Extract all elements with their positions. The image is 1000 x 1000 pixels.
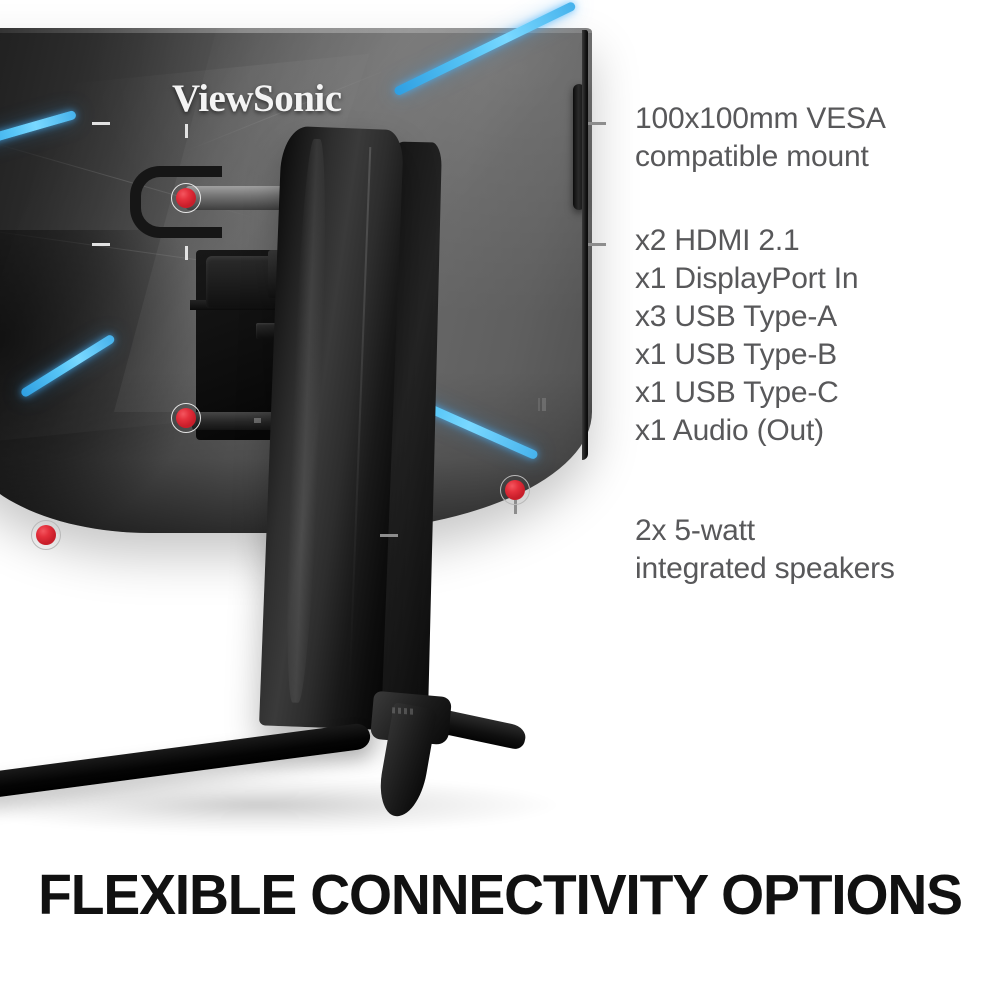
mount-point-marker-icon bbox=[31, 520, 61, 550]
leader-line-vesa-top-tail bbox=[588, 122, 628, 125]
callout-line: integrated speakers bbox=[635, 550, 895, 588]
marker-core bbox=[176, 408, 196, 428]
callout-line: x2 HDMI 2.1 bbox=[635, 222, 858, 260]
leader-line-vesa-top bbox=[92, 122, 584, 125]
leader-line-speakers-left bbox=[40, 534, 380, 537]
callout-line: 100x100mm VESA bbox=[635, 100, 886, 138]
callout-line: x1 Audio (Out) bbox=[635, 412, 858, 450]
leader-line-vertical-mid bbox=[185, 246, 188, 404]
mount-point-marker-icon bbox=[171, 403, 201, 433]
leader-line-vertical-right bbox=[514, 500, 517, 536]
leader-line-ports-tail bbox=[588, 243, 628, 246]
product-photo-monitor-rear: ViewSonic bbox=[0, 0, 620, 850]
callout-line: x1 USB Type-B bbox=[635, 336, 858, 374]
callout-vesa-mount: 100x100mm VESA compatible mount bbox=[635, 100, 886, 176]
mount-point-marker-icon bbox=[171, 183, 201, 213]
stand-column bbox=[259, 126, 404, 730]
page-headline: FLEXIBLE CONNECTIVITY OPTIONS bbox=[15, 862, 985, 928]
mount-point-marker-icon bbox=[500, 475, 530, 505]
leader-line-speakers-right bbox=[380, 534, 628, 537]
callout-line: 2x 5-watt bbox=[635, 512, 895, 550]
product-feature-slide: ViewSonic bbox=[0, 0, 1000, 1000]
stand-column-seam bbox=[348, 147, 371, 699]
status-indicator-icon bbox=[538, 398, 546, 411]
viewsonic-logo: ViewSonic bbox=[172, 76, 342, 121]
marker-core bbox=[505, 480, 525, 500]
callout-line: x1 DisplayPort In bbox=[635, 260, 858, 298]
marker-core bbox=[36, 525, 56, 545]
leader-line-vertical-upper bbox=[185, 124, 188, 182]
marker-core bbox=[176, 188, 196, 208]
callout-line: compatible mount bbox=[635, 138, 886, 176]
callout-line: x3 USB Type-A bbox=[635, 298, 858, 336]
stand-column-highlight bbox=[282, 138, 330, 703]
callout-speakers: 2x 5-watt integrated speakers bbox=[635, 512, 895, 588]
callout-line: x1 USB Type-C bbox=[635, 374, 858, 412]
leader-line-ports bbox=[92, 243, 584, 246]
callout-ports: x2 HDMI 2.1 x1 DisplayPort In x3 USB Typ… bbox=[635, 222, 858, 450]
callout-text-column: 100x100mm VESA compatible mount x2 HDMI … bbox=[635, 0, 1000, 850]
